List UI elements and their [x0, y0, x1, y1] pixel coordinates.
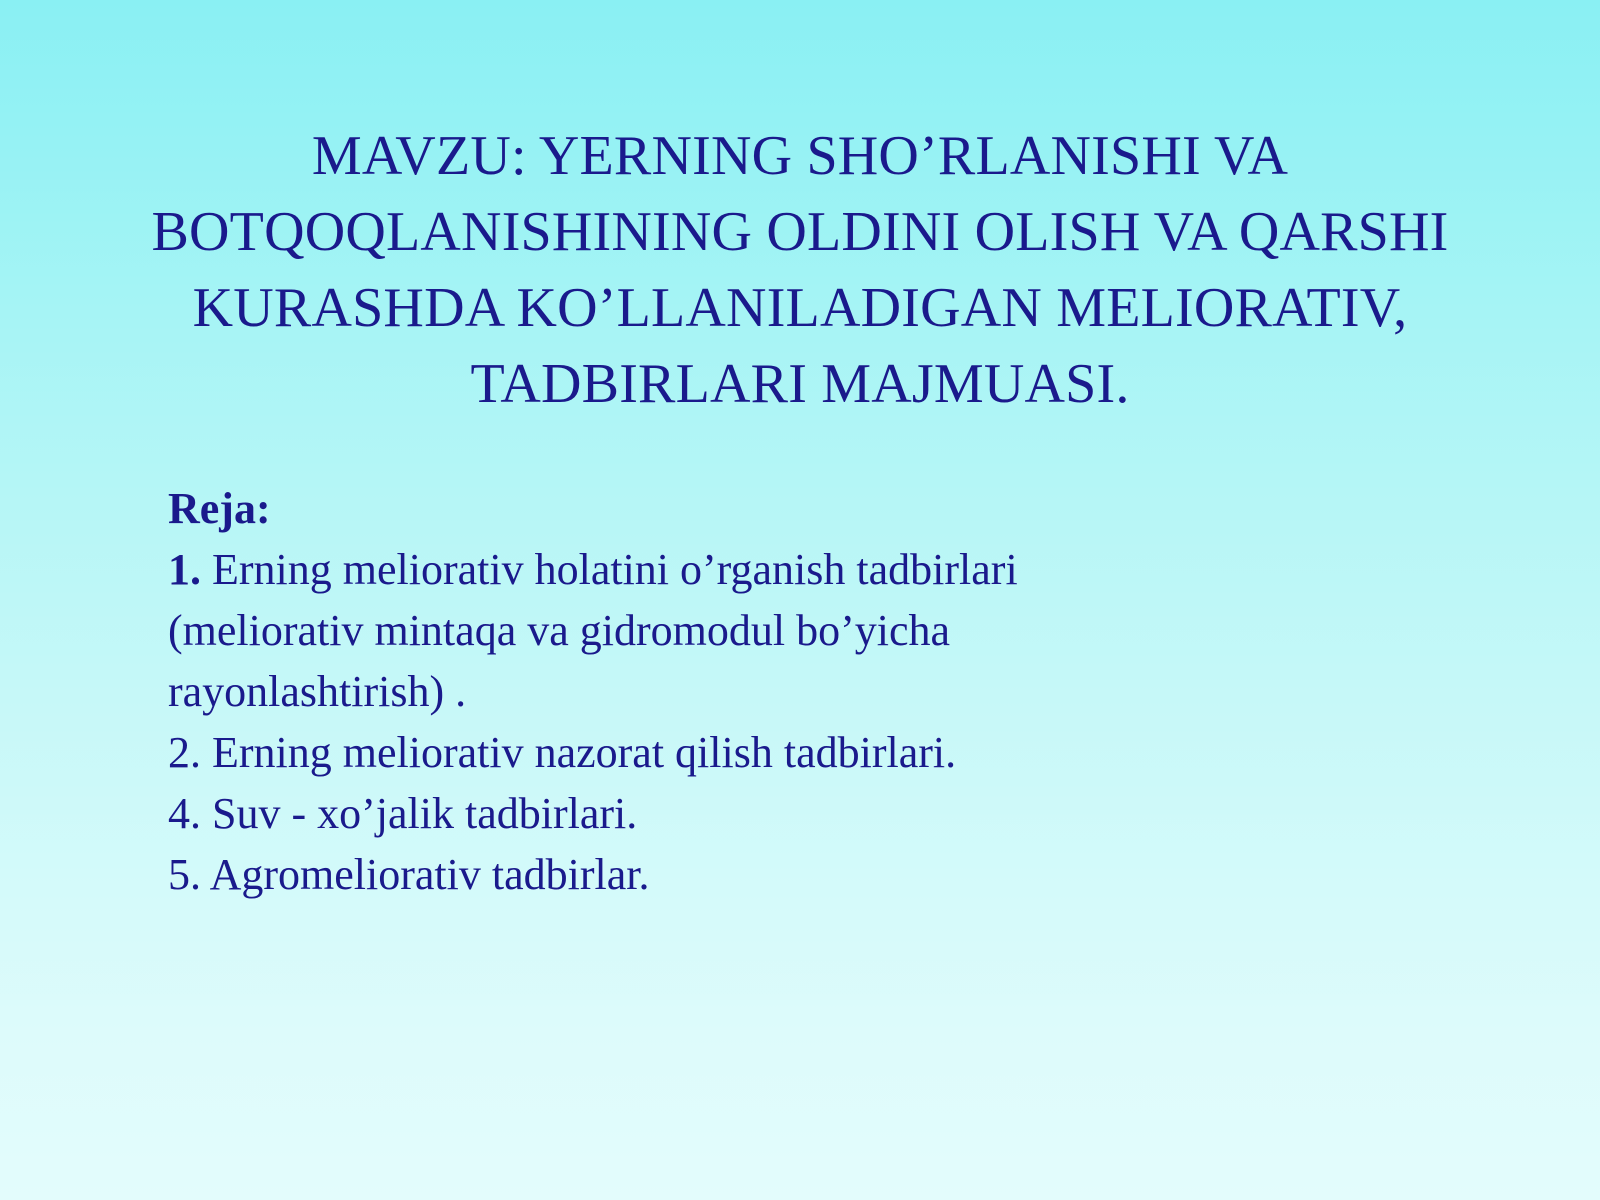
title-line-3: KURASHDA KO’LLANILADIGAN MELIORATIV, — [60, 270, 1540, 346]
agenda-item-5-number: 5. — [168, 850, 210, 899]
agenda-item-4-line-1: 4. Suv - xo’jalik tadbirlari. — [168, 783, 1348, 844]
agenda-item-1-line-2: (meliorativ mintaqa va gidromodul bo’yic… — [168, 600, 1348, 661]
agenda-item-5-text-1: Agromeliorativ tadbirlar. — [210, 850, 650, 899]
agenda-item-1-line-1: 1. Erning meliorativ holatini o’rganish … — [168, 539, 1348, 600]
title-line-1: MAVZU: YERNING SHO’RLANISHI VA — [60, 118, 1540, 194]
slide-canvas: MAVZU: YERNING SHO’RLANISHI VA BOTQOQLAN… — [0, 0, 1600, 1200]
agenda-item-1-number: 1. — [168, 545, 212, 594]
agenda-item-2-line-1: 2. Erning meliorativ nazorat qilish tadb… — [168, 722, 1348, 783]
title-line-2: BOTQOQLANISHINING OLDINI OLISH VA QARSHI — [60, 194, 1540, 270]
agenda-heading: Reja: — [168, 478, 1348, 539]
agenda-item-4-text-1: Suv - xo’jalik tadbirlari. — [212, 789, 637, 838]
slide-title: MAVZU: YERNING SHO’RLANISHI VA BOTQOQLAN… — [60, 118, 1540, 422]
title-line-4: TADBIRLARI MAJMUASI. — [60, 346, 1540, 422]
agenda-item-4-number: 4. — [168, 789, 212, 838]
agenda-item-1-text-1: Erning meliorativ holatini o’rganish tad… — [212, 545, 1018, 594]
agenda-item-2-text-1: Erning meliorativ nazorat qilish tadbirl… — [212, 728, 956, 777]
agenda-item-5-line-1: 5. Agromeliorativ tadbirlar. — [168, 844, 1348, 905]
agenda-block: Reja: 1. Erning meliorativ holatini o’rg… — [168, 478, 1348, 905]
agenda-item-2-number: 2. — [168, 728, 212, 777]
agenda-item-1-line-3: rayonlashtirish) . — [168, 661, 1348, 722]
